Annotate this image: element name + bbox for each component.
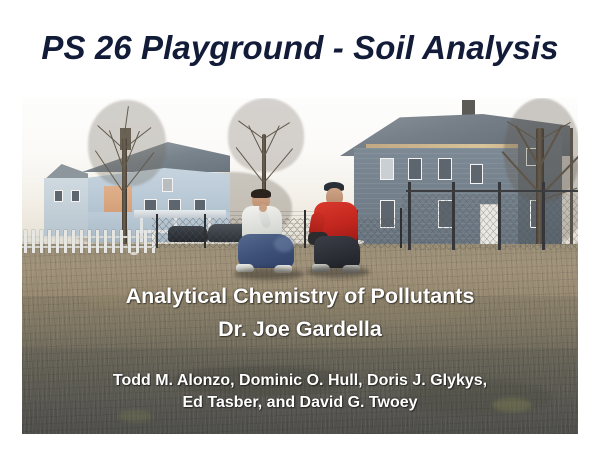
shadow (234, 268, 304, 280)
window (54, 190, 63, 202)
fence-picket (32, 230, 35, 253)
fence-picket (24, 230, 27, 253)
fence-post (452, 182, 455, 250)
hair (251, 189, 271, 198)
tree-canopy-haze (228, 98, 304, 172)
tree-canopy-haze (504, 98, 578, 202)
window (408, 158, 422, 180)
fence-picket (136, 230, 139, 253)
wall (44, 178, 88, 236)
fence-picket (80, 230, 83, 253)
fence-rail-top (406, 190, 578, 192)
picket-fence-left (22, 230, 158, 254)
window (380, 158, 394, 180)
chain-link-fence-right (402, 194, 578, 250)
house-far-left-sliver (44, 164, 88, 238)
knee-highlight (274, 236, 294, 252)
fence-picket (88, 230, 91, 253)
fence-picket (56, 230, 59, 253)
window (71, 190, 80, 202)
hand (259, 204, 267, 212)
fence-picket (64, 230, 67, 253)
fence-post (542, 182, 545, 250)
overlay-course-title: Analytical Chemistry of Pollutants (22, 284, 578, 309)
person-red-jacket (302, 182, 370, 272)
person-white-shirt (230, 190, 302, 274)
fence-picket (112, 230, 115, 253)
fence-post (204, 214, 206, 248)
shadow (306, 266, 370, 278)
overlay-authors-line-1: Todd M. Alonzo, Dominic O. Hull, Doris J… (22, 372, 578, 390)
overlay-authors-line-2: Ed Tasber, and David G. Twoey (22, 394, 578, 412)
window (438, 158, 452, 180)
fence-picket (104, 230, 107, 253)
overlay-instructor-name: Dr. Joe Gardella (22, 317, 578, 342)
fence-picket (40, 230, 43, 253)
tree-canopy-haze (88, 100, 166, 186)
page-title: PS 26 Playground - Soil Analysis (0, 27, 600, 69)
title-slide-photograph: Analytical Chemistry of Pollutants Dr. J… (22, 98, 578, 434)
fence-picket (144, 230, 147, 253)
window (470, 164, 483, 184)
fence-post (156, 214, 158, 248)
fence-post (408, 182, 411, 250)
fence-picket (120, 230, 123, 253)
fence-picket (96, 230, 99, 253)
presentation-slide: PS 26 Playground - Soil Analysis (0, 0, 600, 450)
fence-picket (128, 230, 131, 253)
fence-picket (48, 230, 51, 253)
fence-post (498, 182, 501, 250)
fence-picket (72, 230, 75, 253)
